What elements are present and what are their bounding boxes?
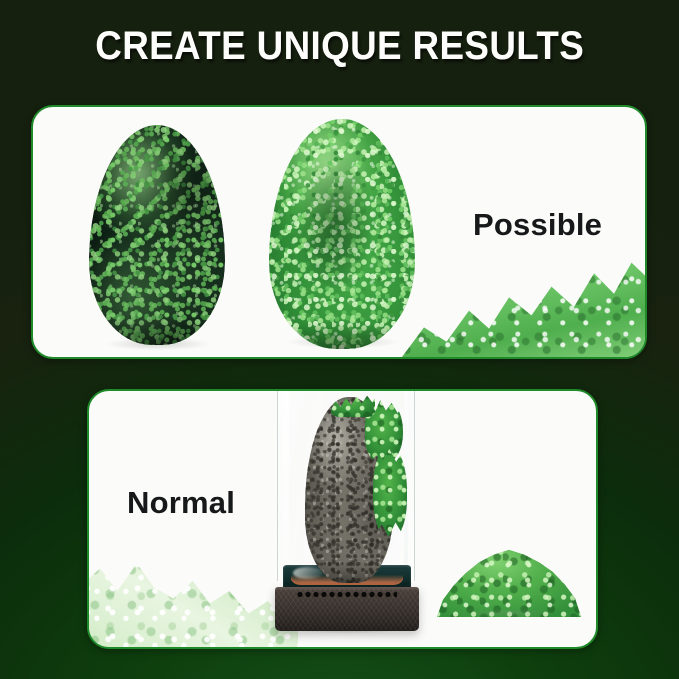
grey-rock-crystal-growth-lower [373,447,407,539]
dark-green-crystal-geode [89,125,225,345]
bright-green-crystal-geode [269,119,415,349]
promo-image-root: CREATE UNIQUE RESULTS Possible [0,0,679,679]
page-title: CREATE UNIQUE RESULTS [0,24,679,69]
panel-possible-inner: Possible [33,107,645,357]
panel-normal: Normal [87,389,598,649]
pale-crystal-rubble [89,526,298,647]
label-possible: Possible [473,207,602,243]
bright-geode-crystal-texture [269,119,415,349]
label-normal: Normal [127,485,235,521]
green-granule-heap-mound [434,539,584,617]
panel-possible: Possible [31,105,647,359]
display-case-vent-holes [297,591,397,598]
display-case [269,391,429,647]
pale-crystal-rubble-texture [89,526,298,647]
panel-normal-inner: Normal [89,391,596,647]
dark-geode-crystal-texture [89,125,225,345]
page-title-text: CREATE UNIQUE RESULTS [95,24,584,69]
green-crystal-rubble [399,241,645,357]
green-granule-heap [434,539,584,617]
display-case-base [275,587,419,631]
green-crystal-rubble-texture [399,241,645,357]
